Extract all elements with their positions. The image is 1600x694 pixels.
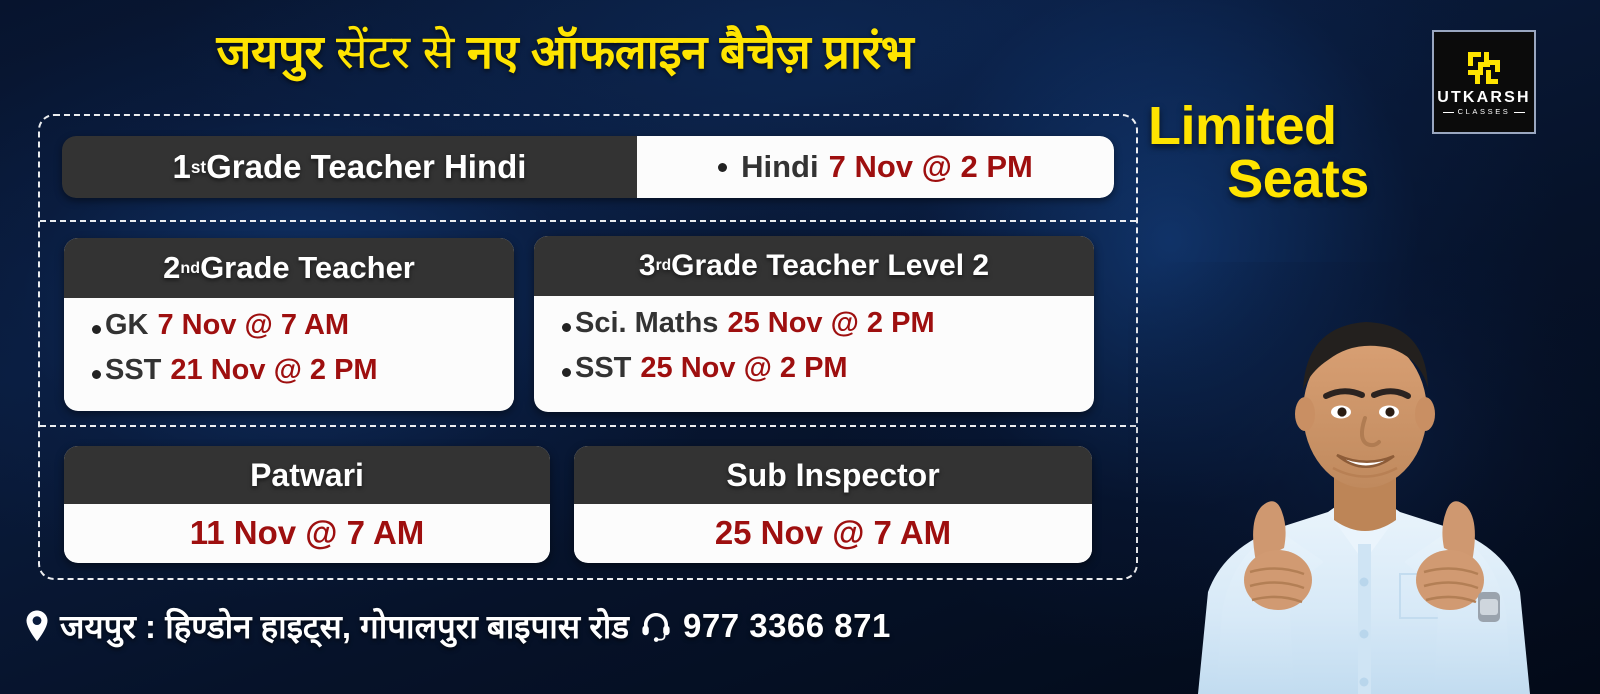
course-title-num: 2 <box>163 250 180 286</box>
course-title-num: 1 <box>173 148 191 186</box>
headline-part-2: सेंटर से <box>323 25 467 78</box>
limited-seats-line-1: Limited <box>1148 100 1418 153</box>
schedule-row: SST 21 Nov @ 2 PM <box>92 350 514 391</box>
course-title-rest: Grade Teacher Hindi <box>206 148 526 186</box>
branch-address: जयपुर : हिण्डोन हाइट्स, गोपालपुरा बाइपास… <box>60 603 629 648</box>
course-title-grade-1: 1st Grade Teacher Hindi <box>62 136 637 198</box>
promo-banner: जयपुर सेंटर से नए ऑफलाइन बैचेज़ प्रारंभ … <box>0 0 1600 694</box>
course-card-grade-3[interactable]: 3rd Grade Teacher Level 2 Sci. Maths 25 … <box>534 236 1094 412</box>
course-date: 25 Nov @ 7 AM <box>574 504 1092 562</box>
course-date: 7 Nov @ 2 PM <box>829 149 1033 185</box>
course-title-grade-2: 2nd Grade Teacher <box>64 238 514 298</box>
course-schedule-patwari: 11 Nov @ 7 AM <box>64 504 550 562</box>
course-date: 21 Nov @ 2 PM <box>170 350 377 391</box>
course-schedule-grade-3: Sci. Maths 25 Nov @ 2 PM SST 25 Nov @ 2 … <box>534 296 1094 398</box>
course-date: 25 Nov @ 2 PM <box>640 348 847 389</box>
contact-strip: जयपुर : हिण्डोन हाइट्स, गोपालपुरा बाइपास… <box>24 603 1134 648</box>
row-divider-2 <box>40 425 1136 427</box>
bullet-icon <box>562 323 571 332</box>
bullet-icon <box>562 368 571 377</box>
course-subject: Sci. Maths <box>575 303 718 344</box>
location-pin-icon <box>24 609 50 643</box>
smiling-man-thumbs-up-illustration <box>1128 262 1600 694</box>
course-schedule-grade-2: GK 7 Nov @ 7 AM SST 21 Nov @ 2 PM <box>64 298 514 400</box>
course-date: 25 Nov @ 2 PM <box>727 303 934 344</box>
course-card-grade-2[interactable]: 2nd Grade Teacher GK 7 Nov @ 7 AM SST 21… <box>64 238 514 411</box>
schedule-row: SST 25 Nov @ 2 PM <box>562 348 1094 389</box>
course-date: 11 Nov @ 7 AM <box>64 504 550 562</box>
course-card-patwari[interactable]: Patwari 11 Nov @ 7 AM <box>64 446 550 563</box>
course-subject: GK <box>105 305 149 346</box>
course-subject: Hindi <box>741 149 819 185</box>
headline-part-3: नए ऑफलाइन बैचेज़ प्रारंभ <box>467 25 914 78</box>
utkarsh-devanagari-monogram-icon <box>1464 48 1504 88</box>
schedule-row: GK 7 Nov @ 7 AM <box>92 305 514 346</box>
course-title-grade-3: 3rd Grade Teacher Level 2 <box>534 236 1094 296</box>
bullet-icon <box>92 370 101 379</box>
course-title-rest: Grade Teacher <box>200 250 415 286</box>
course-title-patwari: Patwari <box>64 446 550 504</box>
limited-seats-callout: Limited Seats <box>1148 100 1418 206</box>
schedule-row: Sci. Maths 25 Nov @ 2 PM <box>562 303 1094 344</box>
course-date: 7 Nov @ 7 AM <box>158 305 350 346</box>
course-title-rest: Grade Teacher Level 2 <box>671 249 989 283</box>
course-title-num: 3 <box>639 249 656 283</box>
logo-sub-text: CLASSES <box>1443 108 1526 116</box>
course-card-sub-inspector[interactable]: Sub Inspector 25 Nov @ 7 AM <box>574 446 1092 563</box>
headset-icon <box>639 609 673 643</box>
logo-brand-text: UTKARSH <box>1437 90 1531 106</box>
page-title: जयपुर सेंटर से नए ऑफलाइन बैचेज़ प्रारंभ <box>0 26 1130 79</box>
course-subject: SST <box>105 350 161 391</box>
course-subject: SST <box>575 348 631 389</box>
course-card-grade-1[interactable]: 1st Grade Teacher Hindi Hindi 7 Nov @ 2 … <box>62 136 1114 198</box>
limited-seats-line-2: Seats <box>1148 153 1418 206</box>
course-schedule-sub-inspector: 25 Nov @ 7 AM <box>574 504 1092 562</box>
instructor-photo <box>1128 262 1600 694</box>
course-schedule-grade-1: Hindi 7 Nov @ 2 PM <box>637 136 1114 198</box>
bullet-icon <box>92 325 101 334</box>
headline-part-1: जयपुर <box>216 25 323 78</box>
bullet-icon <box>718 163 727 172</box>
course-title-sub-inspector: Sub Inspector <box>574 446 1092 504</box>
utkarsh-logo: UTKARSH CLASSES <box>1432 30 1536 134</box>
row-divider-1 <box>40 220 1136 222</box>
phone-number: 977 3366 871 <box>683 607 891 645</box>
